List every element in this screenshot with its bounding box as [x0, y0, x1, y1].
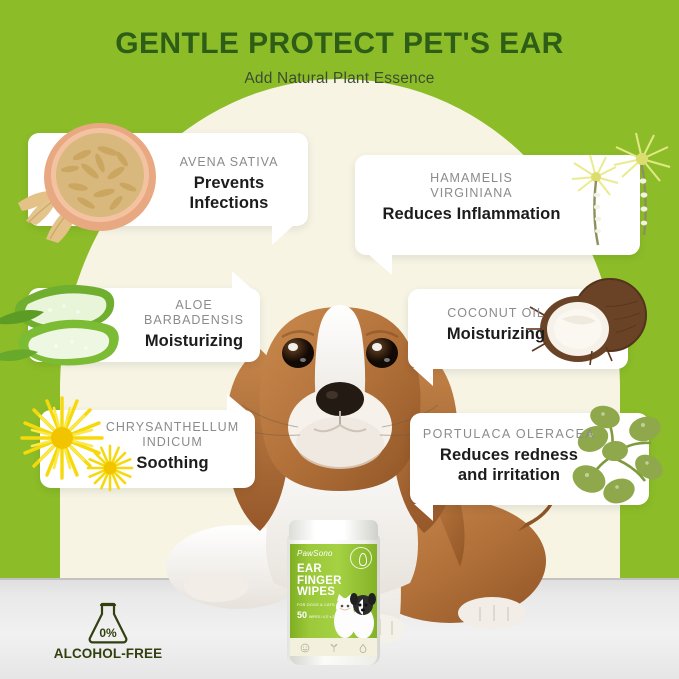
ingredient-name: ALOE BARBADENSIS — [136, 298, 252, 328]
card-text: CHRYSANTHELLUM INDICUM Soothing — [95, 420, 250, 473]
ingredient-name: AVENA SATIVA — [154, 155, 304, 170]
ingredient-name: COCONUT OIL — [422, 306, 570, 321]
product-name-line1: EAR — [297, 563, 322, 575]
card-text: AVENA SATIVA Prevents Infections — [154, 155, 304, 213]
drop-icon — [358, 643, 368, 653]
card-text: COCONUT OIL Moisturizing — [422, 306, 570, 344]
ingredient-name-line1: CHRYSANTHELLUM — [106, 420, 239, 434]
alcohol-free-label: ALCOHOL-FREE — [47, 646, 169, 661]
ingredient-card-chrysanthellum: CHRYSANTHELLUM INDICUM Soothing — [40, 410, 255, 488]
smile-icon — [300, 643, 310, 653]
ingredient-name-line1: HAMAMELIS — [430, 171, 513, 185]
oat-bowl-image — [16, 111, 166, 251]
card-text: PORTULACA OLERACEA Reduces redness and i… — [420, 427, 598, 485]
card-tail — [227, 394, 247, 411]
cat-and-dog-image — [332, 587, 376, 639]
ingredient-benefit: Soothing — [95, 453, 250, 473]
page-subtitle: Add Natural Plant Essence — [0, 70, 679, 88]
header: GENTLE PROTECT PET'S EAR Add Natural Pla… — [0, 0, 679, 88]
product-name-line3: WIPES — [297, 586, 335, 598]
ingredient-benefit: Prevents Infections — [154, 173, 304, 213]
card-text: HAMAMELIS VIRGINIANA Reduces Inflammatio… — [369, 171, 574, 224]
brand-name: PawSono — [297, 549, 333, 558]
alcohol-free-badge: 0% ALCOHOL-FREE — [47, 602, 169, 661]
ingredient-benefit: Moisturizing — [422, 324, 570, 344]
card-text: ALOE BARBADENSIS Moisturizing — [136, 298, 252, 351]
ingredient-card-portulaca: PORTULACA OLERACEA Reduces redness and i… — [410, 413, 649, 505]
ingredient-benefit: Reduces Inflammation — [369, 204, 574, 224]
card-tail — [414, 504, 433, 521]
card-tail — [368, 254, 392, 275]
bottle-lid — [289, 520, 378, 540]
ingredient-name-line2: VIRGINIANA — [430, 186, 512, 200]
ingredient-name-line2: BARBADENSIS — [144, 313, 244, 327]
product-bottle: PawSono EAR FINGER WIPES FOR DOGS & CATS… — [287, 520, 380, 665]
bottle-footer-icons — [290, 638, 377, 657]
ingredient-benefit: Moisturizing — [136, 331, 252, 351]
card-tail — [272, 225, 294, 245]
bottle-base — [290, 656, 377, 665]
wipe-count: 50 — [297, 610, 307, 620]
for-who-text: FOR DOGS & CATS — [297, 603, 335, 607]
ingredient-benefit: Reduces redness and irritation — [420, 445, 598, 485]
ingredient-name-line1: ALOE — [175, 298, 212, 312]
alcohol-percent: 0% — [99, 626, 117, 640]
card-tail — [413, 368, 433, 386]
ingredient-benefit-line2: and irritation — [458, 466, 560, 484]
ingredient-card-aloe: ALOE BARBADENSIS Moisturizing — [28, 288, 260, 362]
ingredient-benefit-line1: Reduces redness — [440, 446, 578, 464]
product-name-line2: FINGER — [297, 575, 342, 587]
ingredient-card-coconut: COCONUT OIL Moisturizing — [408, 289, 628, 369]
ear-icon — [350, 547, 372, 569]
ingredient-name-line2: INDICUM — [142, 435, 202, 449]
ingredient-card-hamamelis: HAMAMELIS VIRGINIANA Reduces Inflammatio… — [355, 155, 640, 255]
bottle-label: PawSono EAR FINGER WIPES FOR DOGS & CATS… — [290, 544, 377, 639]
flask-icon: 0% — [85, 602, 131, 644]
ingredient-name: CHRYSANTHELLUM INDICUM — [95, 420, 250, 450]
aloe-vera-slices-image — [0, 258, 148, 388]
ingredient-name: HAMAMELIS VIRGINIANA — [369, 171, 574, 201]
ingredient-card-avena: AVENA SATIVA Prevents Infections — [28, 133, 308, 226]
card-tail — [232, 271, 252, 289]
plant-icon — [329, 643, 339, 653]
ingredient-name: PORTULACA OLERACEA — [420, 427, 598, 442]
page-title: GENTLE PROTECT PET'S EAR — [0, 27, 679, 61]
